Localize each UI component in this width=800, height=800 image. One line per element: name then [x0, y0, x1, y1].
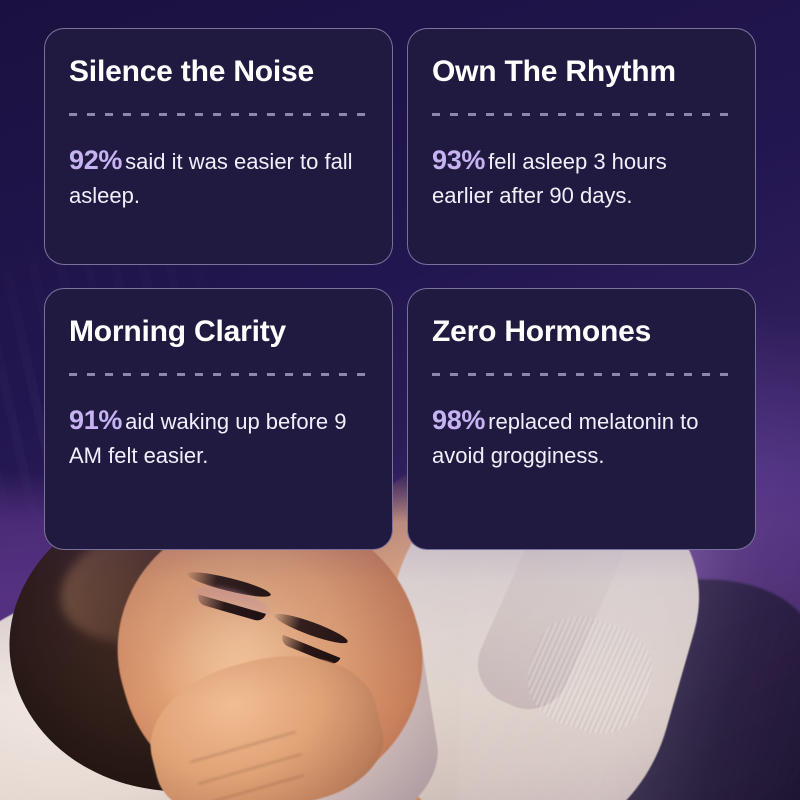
stat-card-silence-the-noise: Silence the Noise 92%said it was easier … [44, 28, 393, 265]
stat-card-zero-hormones: Zero Hormones 98%replaced melatonin to a… [407, 288, 756, 550]
card-body: 93%fell asleep 3 hours earlier after 90 … [432, 143, 731, 213]
stat-percent: 92% [69, 145, 122, 175]
stat-card-grid: Silence the Noise 92%said it was easier … [44, 28, 756, 550]
card-body: 91%aid waking up before 9 AM felt easier… [69, 403, 368, 473]
dashed-divider [69, 113, 368, 116]
stat-card-morning-clarity: Morning Clarity 91%aid waking up before … [44, 288, 393, 550]
dashed-divider [432, 113, 731, 116]
dashed-divider [432, 373, 731, 376]
card-body: 98%replaced melatonin to avoid groggines… [432, 403, 731, 473]
dashed-divider [69, 373, 368, 376]
card-title: Morning Clarity [69, 315, 368, 348]
card-title: Own The Rhythm [432, 55, 731, 88]
stat-percent: 93% [432, 145, 485, 175]
stat-card-own-the-rhythm: Own The Rhythm 93%fell asleep 3 hours ea… [407, 28, 756, 265]
card-title: Zero Hormones [432, 315, 731, 348]
stat-percent: 91% [69, 405, 122, 435]
card-body: 92%said it was easier to fall asleep. [69, 143, 368, 213]
stat-percent: 98% [432, 405, 485, 435]
card-title: Silence the Noise [69, 55, 368, 88]
